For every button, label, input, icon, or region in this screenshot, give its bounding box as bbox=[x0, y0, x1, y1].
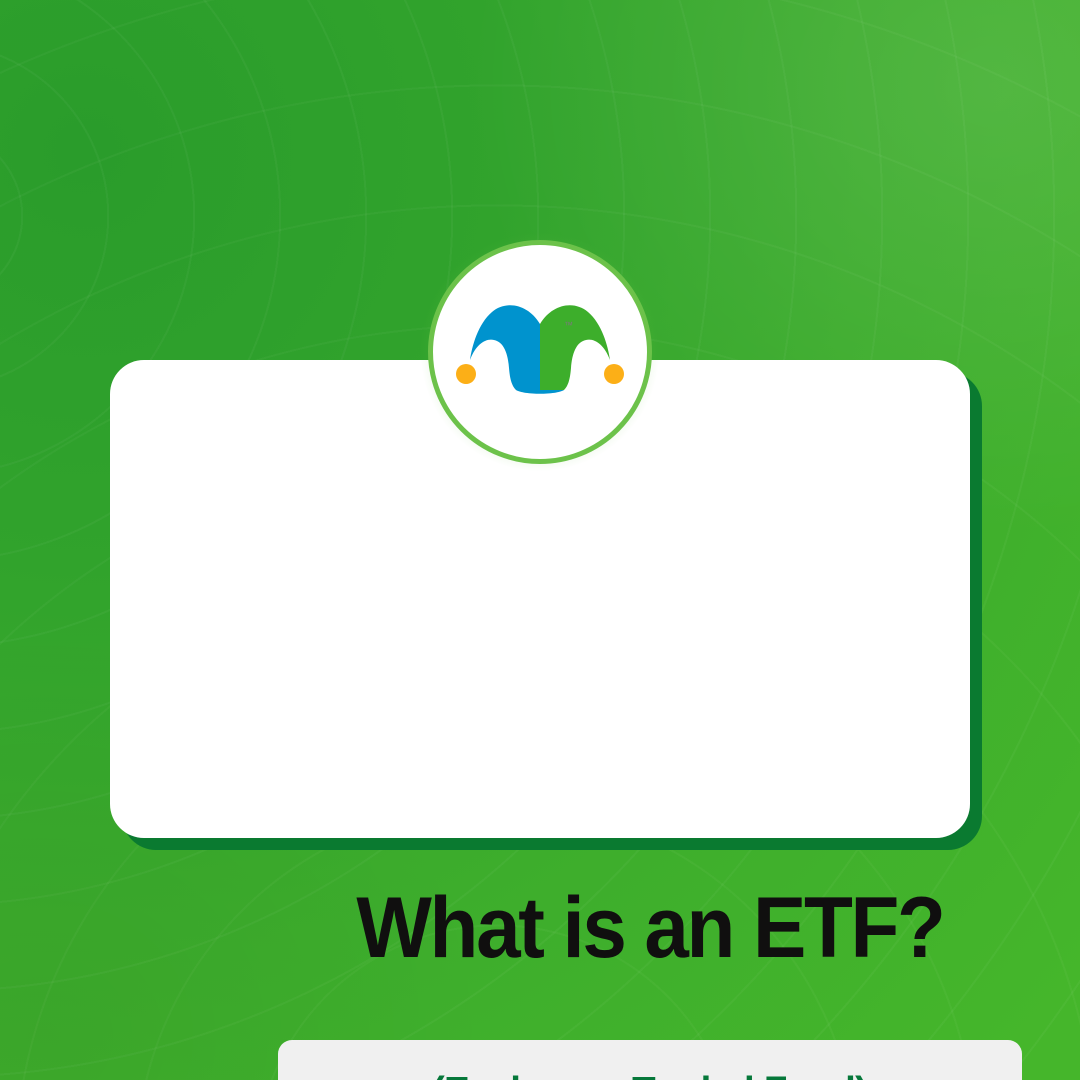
page-title: What is an ETF? bbox=[250, 868, 1050, 988]
jester-bell-left bbox=[456, 364, 476, 384]
slide-canvas: What is an ETF? (Exchange-Traded Fund) ™ bbox=[0, 0, 1080, 1080]
trademark-symbol: ™ bbox=[564, 320, 573, 330]
jester-bell-right bbox=[604, 364, 624, 384]
subtitle-pill: (Exchange-Traded Fund) bbox=[278, 1040, 1022, 1080]
jester-cap-icon bbox=[454, 298, 626, 408]
brand-logo: ™ bbox=[428, 240, 652, 464]
subtitle-text: (Exchange-Traded Fund) bbox=[432, 1068, 867, 1080]
